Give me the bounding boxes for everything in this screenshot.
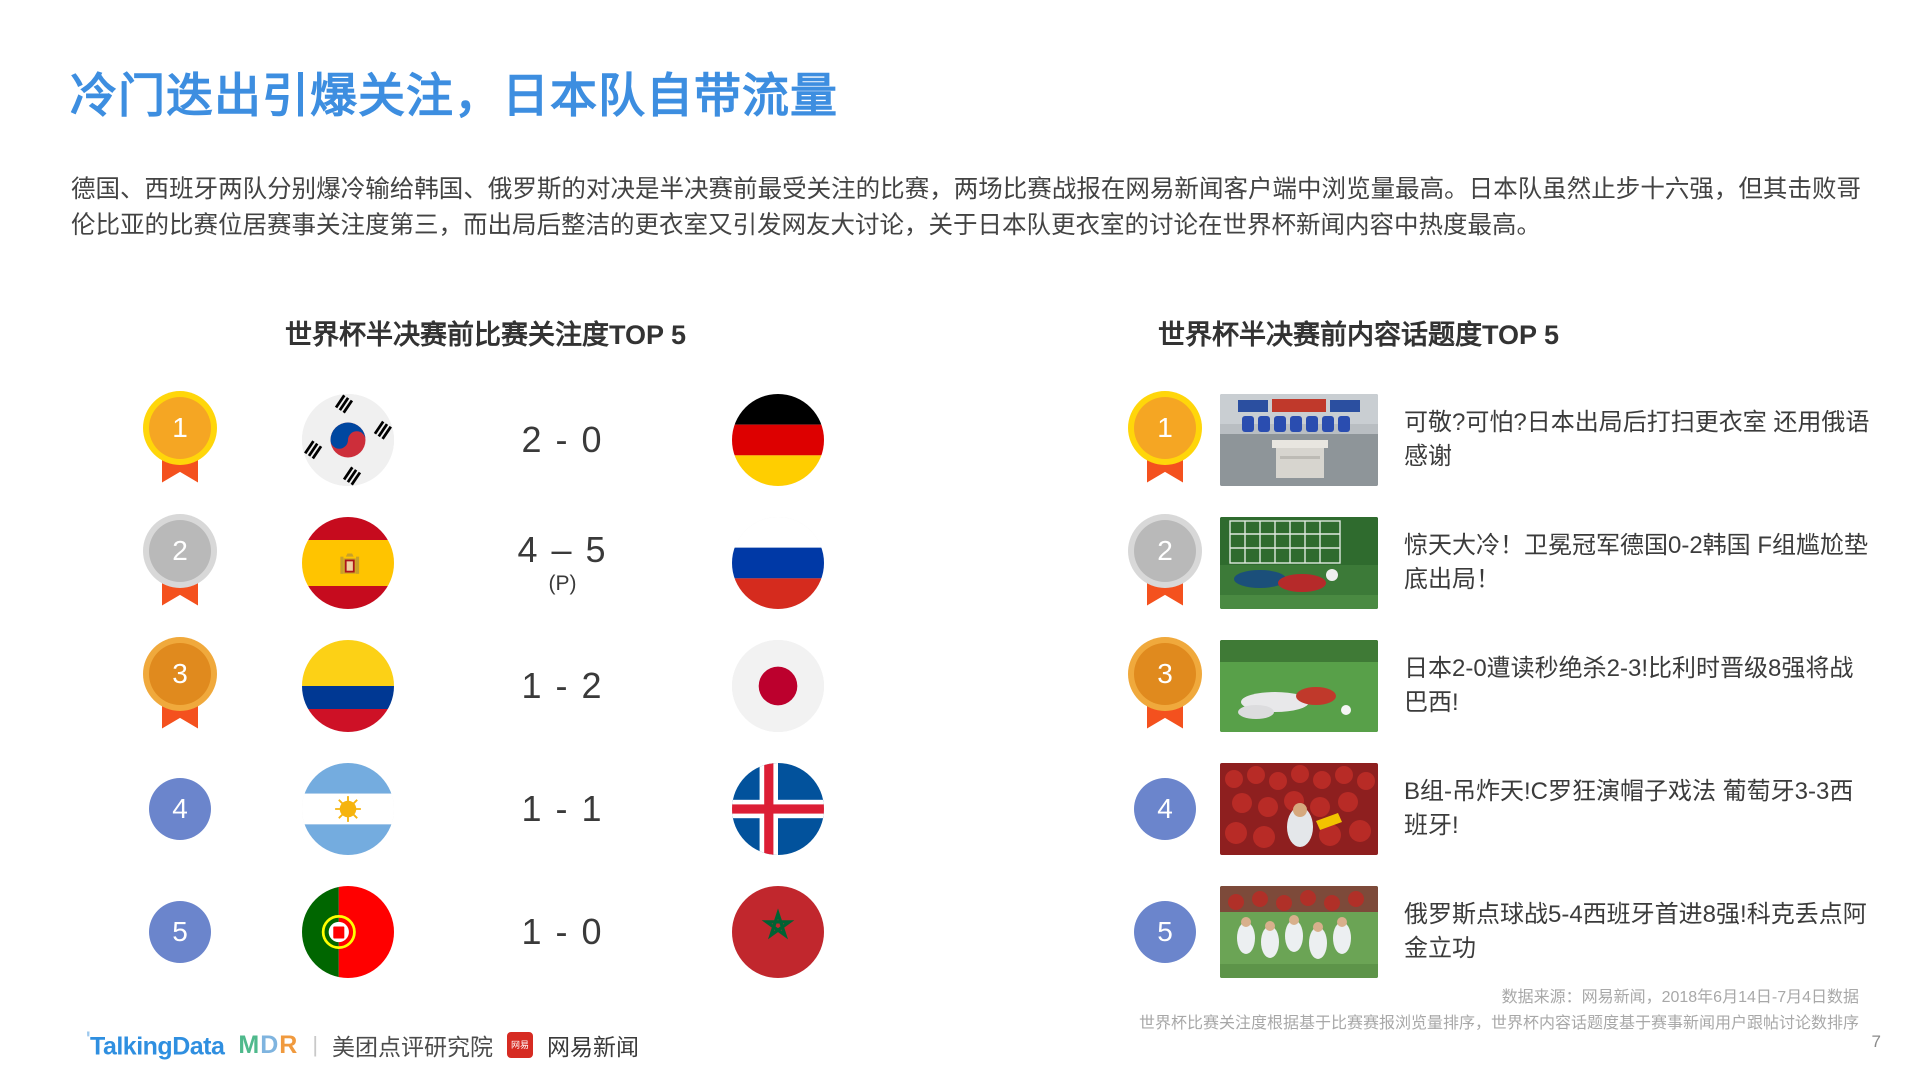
score-cell: 2 - 0 bbox=[455, 419, 670, 461]
table-row: 4 1 - 1 bbox=[120, 747, 920, 870]
topic-headline[interactable]: 惊天大冷！卫冕冠军德国0-2韩国 F组尴尬垫底出局！ bbox=[1404, 529, 1874, 597]
slide-page: 冷门迭出引爆关注，日本队自带流量 德国、西班牙两队分别爆冷输给韩国、俄罗斯的对决… bbox=[0, 0, 1921, 1080]
list-item[interactable]: 1 bbox=[1110, 378, 1900, 501]
rank-badge-cell: 1 bbox=[1110, 397, 1220, 483]
flag-morocco-icon bbox=[732, 886, 824, 978]
score-note: (P) bbox=[549, 572, 577, 596]
meituan-research-logo: 美团点评研究院 bbox=[332, 1028, 493, 1062]
intro-paragraph: 德国、西班牙两队分别爆冷输给韩国、俄罗斯的对决是半决赛前最受关注的比赛，两场比赛… bbox=[71, 172, 1861, 244]
away-flag-cell bbox=[670, 517, 885, 609]
medal-gold-icon: 1 bbox=[149, 397, 211, 483]
medal-silver-icon: 2 bbox=[1134, 520, 1196, 606]
match-ranking-table: 1 2 - 0 bbox=[120, 378, 920, 993]
medal-bronze-icon: 3 bbox=[149, 643, 211, 729]
locker-room-thumbnail bbox=[1220, 394, 1378, 486]
source-line-1: 数据来源：网易新闻，2018年6月14日-7月4日数据 bbox=[1139, 985, 1859, 1011]
rank-badge-cell: 3 bbox=[120, 643, 240, 729]
rank-badge-cell: 5 bbox=[1110, 901, 1220, 963]
footer-logos: 'TalkingData MDR | 美团点评研究院 网易 网易新闻 bbox=[86, 1028, 639, 1062]
rank-badge-cell: 3 bbox=[1110, 643, 1220, 729]
topic-headline[interactable]: 可敬?可怕?日本出局后打扫更衣室 还用俄语感谢 bbox=[1404, 406, 1874, 474]
list-item[interactable]: 3 日本2-0遭读秒绝杀2-3!比利时晋级8强将战巴西! bbox=[1110, 624, 1900, 747]
flag-germany-icon bbox=[732, 394, 824, 486]
table-row: 5 1 - 0 bbox=[120, 870, 920, 993]
topic-ranking-list: 1 bbox=[1110, 378, 1900, 993]
score-value: 1 - 1 bbox=[521, 788, 603, 830]
rank-number: 4 bbox=[1134, 778, 1196, 840]
flag-spain-icon bbox=[302, 517, 394, 609]
score-cell: 1 - 0 bbox=[455, 911, 670, 953]
rank-badge-cell: 4 bbox=[120, 778, 240, 840]
list-item[interactable]: 2 bbox=[1110, 501, 1900, 624]
rank-number: 2 bbox=[149, 520, 211, 582]
crowd-celebration-thumbnail bbox=[1220, 763, 1378, 855]
team-celebration-thumbnail bbox=[1220, 886, 1378, 978]
page-title: 冷门迭出引爆关注，日本队自带流量 bbox=[70, 57, 838, 126]
flag-argentina-icon bbox=[302, 763, 394, 855]
home-flag-cell bbox=[240, 640, 455, 732]
flag-iceland-icon bbox=[732, 763, 824, 855]
medal-gold-icon: 1 bbox=[1134, 397, 1196, 483]
flag-portugal-icon bbox=[302, 886, 394, 978]
away-flag-cell bbox=[670, 763, 885, 855]
rank-badge-cell: 4 bbox=[1110, 778, 1220, 840]
away-flag-cell bbox=[670, 886, 885, 978]
players-on-pitch-thumbnail bbox=[1220, 640, 1378, 732]
list-item[interactable]: 4 bbox=[1110, 747, 1900, 870]
rank-number: 4 bbox=[149, 778, 211, 840]
table-row: 2 bbox=[120, 501, 920, 624]
netease-news-logo: 网易新闻 bbox=[547, 1028, 639, 1062]
section-title-matches: 世界杯半决赛前比赛关注度TOP 5 bbox=[285, 313, 686, 352]
score-value: 1 - 0 bbox=[521, 911, 603, 953]
home-flag-cell bbox=[240, 886, 455, 978]
home-flag-cell bbox=[240, 763, 455, 855]
rank-number: 1 bbox=[1134, 397, 1196, 459]
medal-bronze-icon: 3 bbox=[1134, 643, 1196, 729]
talkingdata-logo: 'TalkingData bbox=[86, 1029, 224, 1061]
page-number: 7 bbox=[1872, 1032, 1881, 1052]
home-flag-cell bbox=[240, 394, 455, 486]
logo-divider: | bbox=[312, 1032, 318, 1058]
away-flag-cell bbox=[670, 394, 885, 486]
section-title-topics: 世界杯半决赛前内容话题度TOP 5 bbox=[1158, 313, 1559, 352]
away-flag-cell bbox=[670, 640, 885, 732]
score-value: 1 - 2 bbox=[521, 665, 603, 707]
rank-number: 5 bbox=[1134, 901, 1196, 963]
medal-silver-icon: 2 bbox=[149, 520, 211, 606]
rank-badge-cell: 5 bbox=[120, 901, 240, 963]
netease-badge-icon: 网易 bbox=[507, 1032, 533, 1058]
table-row: 3 1 - 2 bbox=[120, 624, 920, 747]
rank-number: 3 bbox=[149, 643, 211, 705]
home-flag-cell bbox=[240, 517, 455, 609]
topic-headline[interactable]: 日本2-0遭读秒绝杀2-3!比利时晋级8强将战巴西! bbox=[1404, 652, 1874, 720]
table-row: 1 2 - 0 bbox=[120, 378, 920, 501]
goalmouth-save-thumbnail bbox=[1220, 517, 1378, 609]
score-cell: 1 - 2 bbox=[455, 665, 670, 707]
topic-headline[interactable]: B组-吊炸天!C罗狂演帽子戏法 葡萄牙3-3西班牙! bbox=[1404, 775, 1874, 843]
flag-russia-icon bbox=[732, 517, 824, 609]
flag-colombia-icon bbox=[302, 640, 394, 732]
rank-number: 3 bbox=[1134, 643, 1196, 705]
rank-badge-cell: 1 bbox=[120, 397, 240, 483]
rank-badge-cell: 2 bbox=[120, 520, 240, 606]
score-cell: 4 – 5 (P) bbox=[455, 529, 670, 596]
mdr-logo: MDR bbox=[238, 1031, 298, 1060]
score-value: 2 - 0 bbox=[521, 419, 603, 461]
flag-japan-icon bbox=[732, 640, 824, 732]
source-line-2: 世界杯比赛关注度根据基于比赛赛报浏览量排序，世界杯内容话题度基于赛事新闻用户跟帖… bbox=[1139, 1011, 1859, 1037]
source-note: 数据来源：网易新闻，2018年6月14日-7月4日数据 世界杯比赛关注度根据基于… bbox=[1139, 985, 1859, 1037]
score-value: 4 – 5 bbox=[517, 529, 607, 571]
topic-headline[interactable]: 俄罗斯点球战5-4西班牙首进8强!科克丢点阿金立功 bbox=[1404, 898, 1874, 966]
flag-south-korea-icon bbox=[302, 394, 394, 486]
list-item[interactable]: 5 bbox=[1110, 870, 1900, 993]
rank-number: 5 bbox=[149, 901, 211, 963]
rank-badge-cell: 2 bbox=[1110, 520, 1220, 606]
rank-number: 2 bbox=[1134, 520, 1196, 582]
rank-number: 1 bbox=[149, 397, 211, 459]
score-cell: 1 - 1 bbox=[455, 788, 670, 830]
